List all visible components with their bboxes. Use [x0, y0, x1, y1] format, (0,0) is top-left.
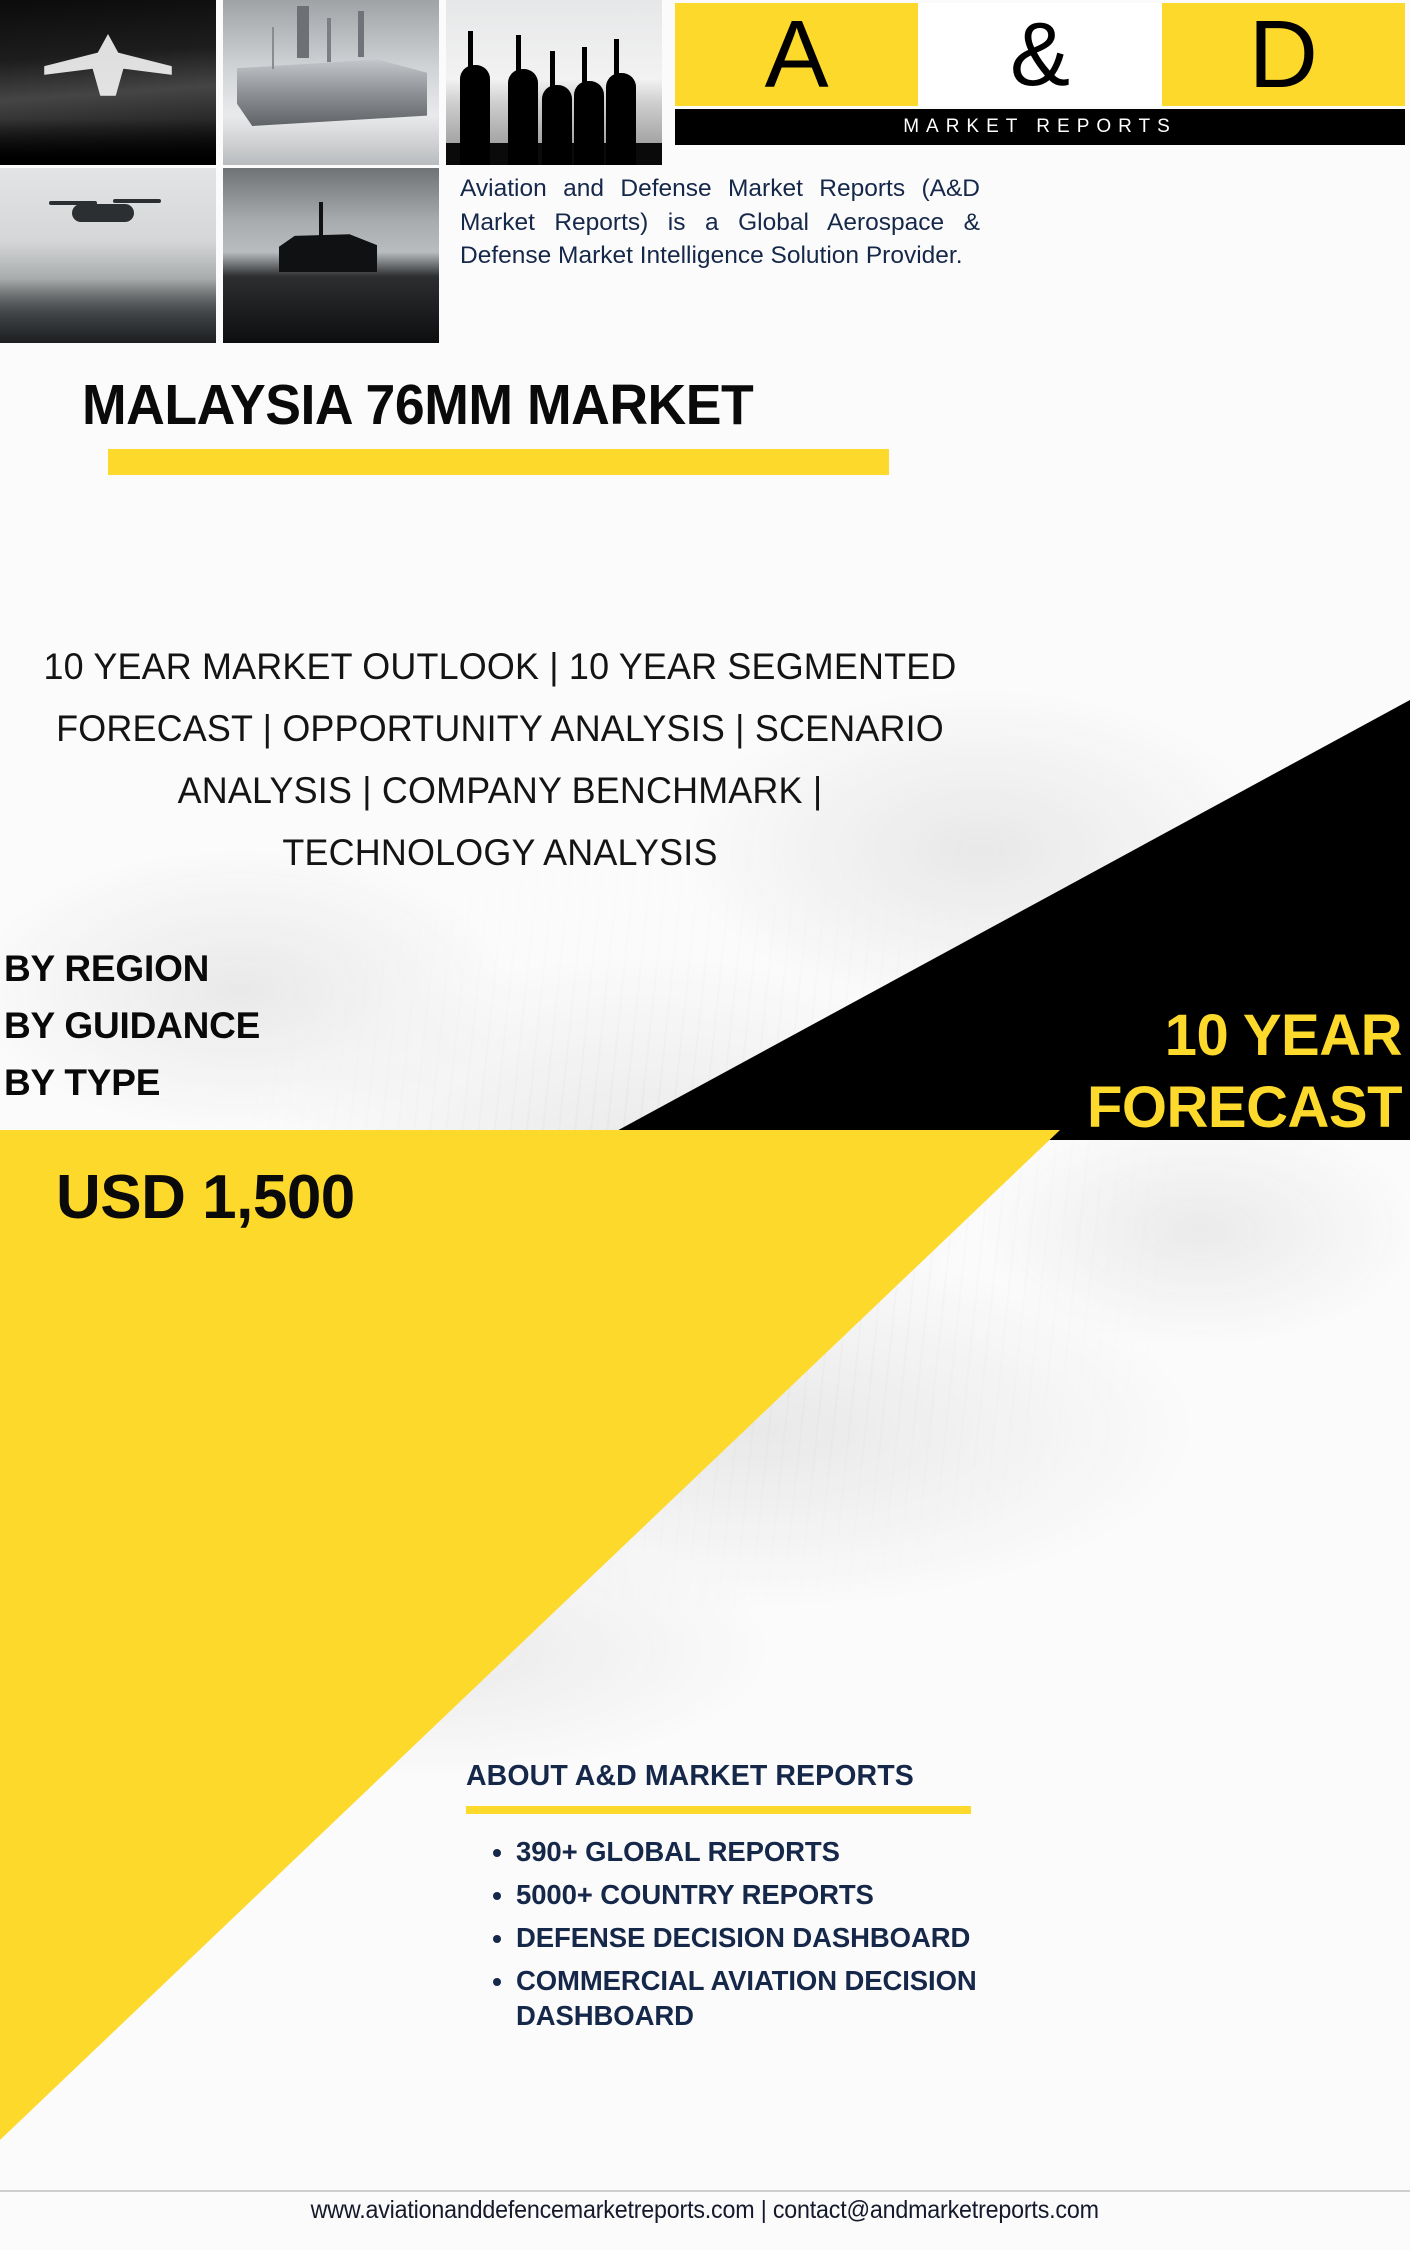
- feature-line-1: 10 YEAR MARKET OUTLOOK | 10 YEAR SEGMENT…: [15, 636, 985, 698]
- poster-root: A & D MARKET REPORTS Aviation and Defens…: [0, 0, 1410, 2250]
- forecast-badge: 10 YEAR FORECAST: [690, 1000, 1410, 1144]
- logo-letter-ampersand: &: [918, 3, 1161, 106]
- brand-logo: A & D MARKET REPORTS: [675, 3, 1405, 145]
- photo-fighter-jet: [0, 0, 216, 165]
- price-label: USD 1,500: [56, 1162, 355, 1233]
- list-item: DEFENSE DECISION DASHBOARD: [516, 1920, 1016, 1955]
- segment-item-by-guidance: BY GUIDANCE: [4, 1003, 260, 1049]
- list-item: 390+ GLOBAL REPORTS: [516, 1834, 1016, 1869]
- logo-letter-row: A & D: [675, 3, 1405, 106]
- photo-soldiers-silhouette: [446, 0, 662, 165]
- list-item: COMMERCIAL AVIATION DECISION DASHBOARD: [516, 1963, 1016, 2033]
- list-item: 5000+ COUNTRY REPORTS: [516, 1877, 1016, 1912]
- about-heading-underline: [466, 1806, 971, 1814]
- feature-line-2: FORECAST | OPPORTUNITY ANALYSIS | SCENAR…: [15, 698, 985, 760]
- forecast-badge-line-1: 10 YEAR: [690, 1000, 1402, 1072]
- intro-paragraph: Aviation and Defense Market Reports (A&D…: [460, 172, 980, 273]
- about-heading: ABOUT A&D MARKET REPORTS: [466, 1760, 914, 1793]
- feature-line-4: TECHNOLOGY ANALYSIS: [15, 822, 985, 884]
- logo-letter-d: D: [1162, 3, 1405, 106]
- photo-armored-vehicle: [223, 168, 439, 343]
- footer-contact: www.aviationanddefencemarketreports.com …: [0, 2196, 1410, 2225]
- page-title: MALAYSIA 76MM MARKET: [82, 372, 1022, 438]
- logo-letter-a: A: [675, 3, 918, 106]
- feature-list-text: 10 YEAR MARKET OUTLOOK | 10 YEAR SEGMENT…: [0, 636, 1000, 884]
- about-bullet-list: 390+ GLOBAL REPORTS 5000+ COUNTRY REPORT…: [470, 1834, 1016, 2041]
- logo-subtitle-bar: MARKET REPORTS: [675, 109, 1405, 145]
- title-underline-bar: [108, 449, 889, 475]
- footer-divider: [0, 2190, 1410, 2192]
- footer-contact-text[interactable]: www.aviationanddefencemarketreports.com …: [311, 2196, 1099, 2225]
- segmentation-list: BY REGION BY GUIDANCE BY TYPE: [4, 946, 260, 1117]
- photo-aircraft-carrier: [223, 0, 439, 165]
- segment-item-by-region: BY REGION: [4, 946, 260, 992]
- feature-line-3: ANALYSIS | COMPANY BENCHMARK |: [15, 760, 985, 822]
- logo-subtitle-text: MARKET REPORTS: [903, 116, 1177, 138]
- segment-item-by-type: BY TYPE: [4, 1060, 260, 1106]
- photo-helicopter: [0, 168, 216, 343]
